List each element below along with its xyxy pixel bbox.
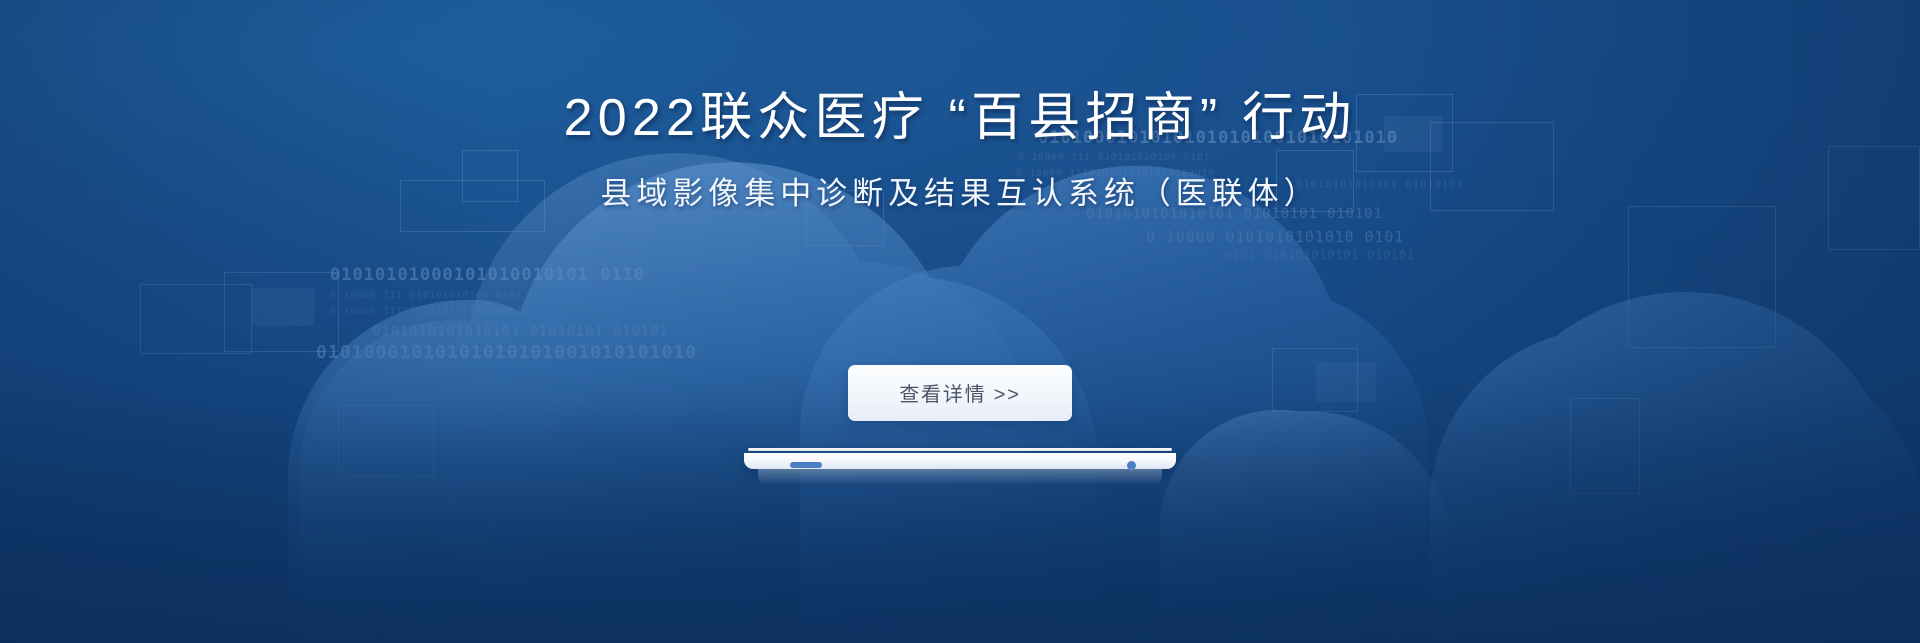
page-subtitle: 县域影像集中诊断及结果互认系统（医联体）: [0, 175, 1920, 212]
device-reflection: [758, 469, 1162, 485]
view-details-button[interactable]: 查看详情 >>: [848, 365, 1072, 421]
device-speaker-icon: [790, 462, 822, 468]
page-title: 2022联众医疗 “百县招商” 行动: [0, 88, 1920, 149]
device-bezel: [744, 453, 1176, 469]
promo-banner: 01010101000101010010101 0110 0 10000 111…: [0, 0, 1920, 643]
tablet-device-graphic: [744, 448, 1176, 474]
cta-container: 查看详情 >>: [0, 365, 1920, 421]
device-screen-edge: [748, 448, 1172, 451]
headline-block: 2022联众医疗 “百县招商” 行动 县域影像集中诊断及结果互认系统（医联体）: [0, 88, 1920, 213]
